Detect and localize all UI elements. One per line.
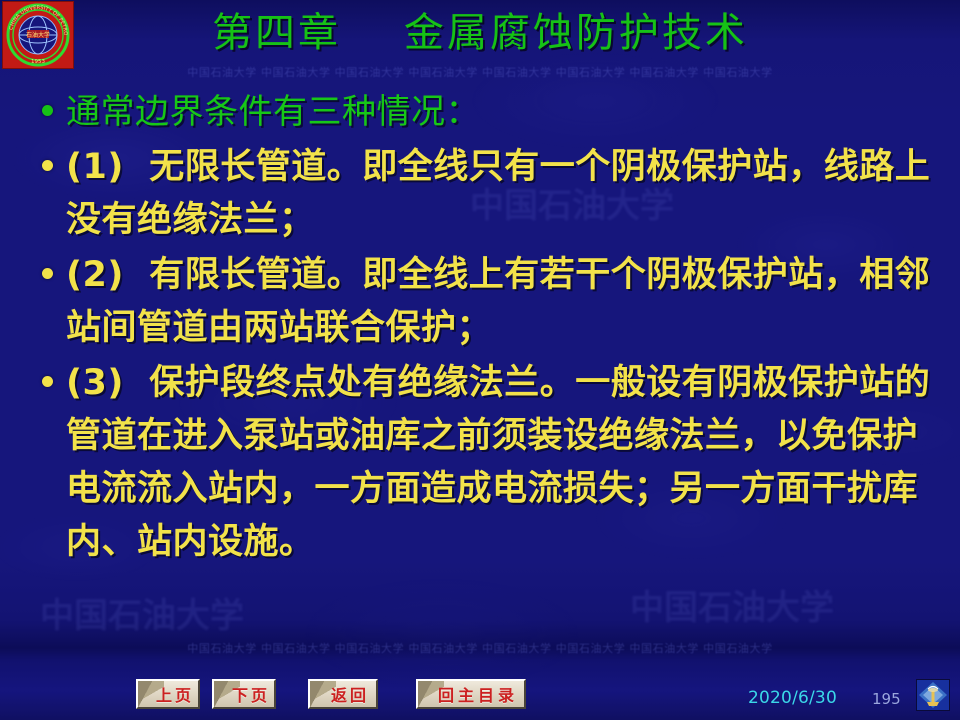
slide-date: 2020/6/30 [748,688,837,708]
bullet-dot-icon [42,376,53,387]
bullet-dot-icon [42,160,53,171]
decorative-fountain-icon [916,679,950,711]
main-menu-label: 回主目录 [424,682,518,706]
bullet-dot-icon [42,268,53,279]
return-button[interactable]: 返回 [308,679,378,709]
bullet-item: 通常边界条件有三种情况： [42,86,932,139]
bullet-item: (1) 无限长管道。即全线只有一个阴极保护站，线路上没有绝缘法兰； [42,141,932,247]
prev-page-label: 上页 [142,682,194,706]
watermark-band-top: 中国石油大学 中国石油大学 中国石油大学 中国石油大学 中国石油大学 中国石油大… [0,64,960,80]
presentation-slide: 中国石油大学 中国石油大学 中国石油大学 中国石油大学 中国石油大学 中国石油大… [0,0,960,720]
bullet-text: (1) 无限长管道。即全线只有一个阴极保护站，线路上没有绝缘法兰； [66,141,932,247]
next-page-button[interactable]: 下页 [212,679,276,709]
bullet-text: (3) 保护段终点处有绝缘法兰。一般设有阴极保护站的管道在进入泵站或油库之前须装… [66,357,932,569]
prev-page-button[interactable]: 上页 [136,679,200,709]
bullet-item: (3) 保护段终点处有绝缘法兰。一般设有阴极保护站的管道在进入泵站或油库之前须装… [42,357,932,569]
main-menu-button[interactable]: 回主目录 [416,679,526,709]
bullet-item: (2) 有限长管道。即全线上有若干个阴极保护站，相邻站间管道由两站联合保护； [42,249,932,355]
return-label: 返回 [317,682,369,706]
bullet-text: 通常边界条件有三种情况： [66,86,932,139]
bullet-dot-icon [42,105,53,116]
watermark-ghost-b: 中国石油大学 [630,580,834,629]
bullet-text: (2) 有限长管道。即全线上有若干个阴极保护站，相邻站间管道由两站联合保护； [66,249,932,355]
watermark-ghost-c: 中国石油大学 [40,588,244,637]
next-page-label: 下页 [218,682,270,706]
slide-body: 通常边界条件有三种情况： (1) 无限长管道。即全线只有一个阴极保护站，线路上没… [42,86,932,571]
slide-page-number: 195 [872,690,901,708]
slide-title: 第四章 金属腐蚀防护技术 [0,6,960,60]
fountain-graphic [917,680,949,710]
